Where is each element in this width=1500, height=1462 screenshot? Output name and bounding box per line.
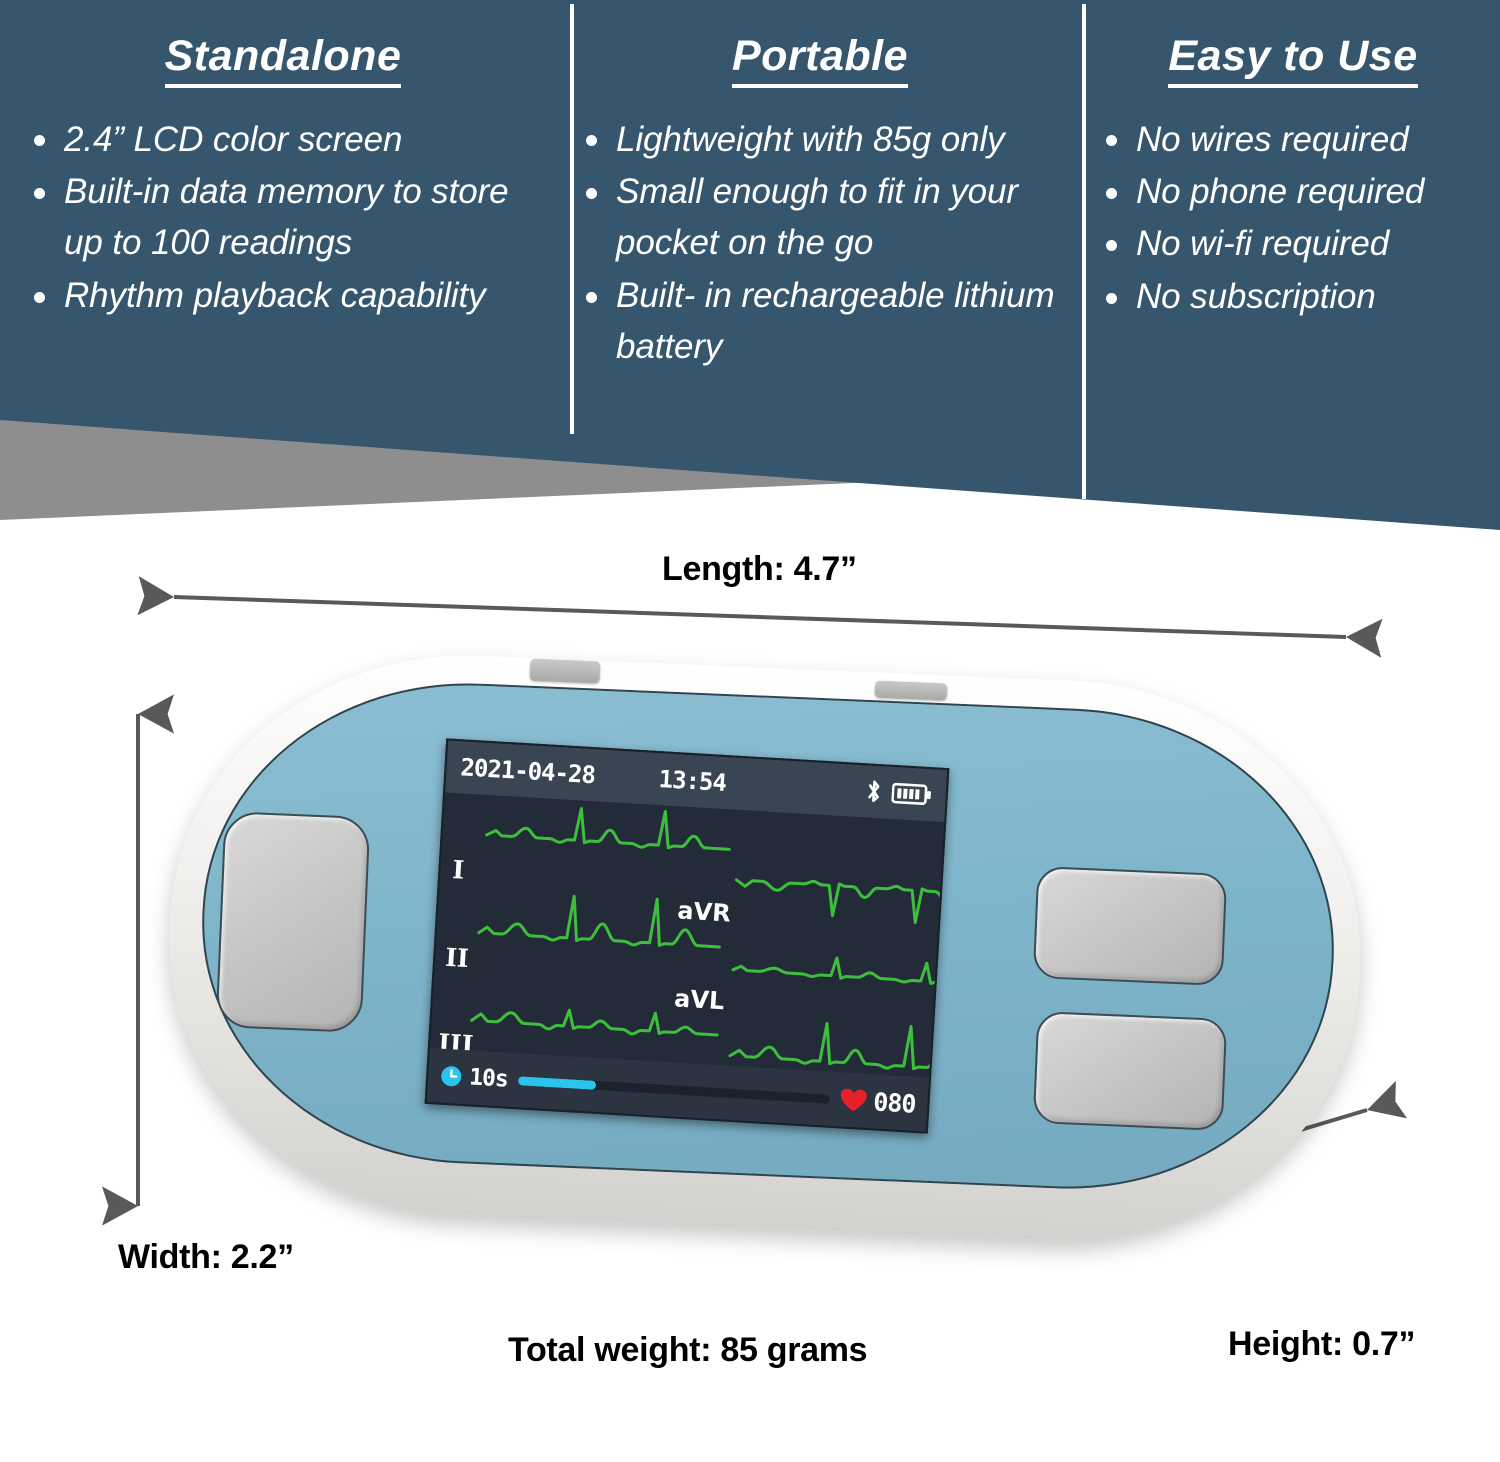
electrode-pad-right-bottom[interactable]	[1033, 1011, 1228, 1131]
header-columns: Standalone 2.4” LCD color screen Built-i…	[0, 0, 1500, 420]
weight-label: Total weight: 85 grams	[508, 1331, 867, 1370]
column-title-wrap: Easy to Use	[1098, 34, 1488, 88]
feature-list: No wires required No phone required No w…	[1098, 114, 1488, 323]
column-title: Standalone	[165, 34, 402, 88]
bluetooth-icon	[864, 778, 884, 805]
lead-label-aVR: aVR	[677, 896, 732, 927]
clock-icon	[440, 1065, 463, 1088]
side-button-right[interactable]	[875, 680, 948, 700]
side-button-left[interactable]	[530, 659, 601, 684]
list-item: Rhythm playback capability	[26, 270, 540, 321]
lcd-date: 2021-04-28	[460, 753, 596, 789]
column-divider	[1082, 4, 1086, 499]
lcd-status-icons	[864, 778, 932, 808]
list-item: No phone required	[1098, 166, 1488, 217]
feature-list: 2.4” LCD color screen Built-in data memo…	[26, 114, 540, 322]
column-title: Easy to Use	[1168, 34, 1417, 88]
lcd-screen[interactable]: 2021-04-28 13:54	[425, 738, 950, 1133]
height-label: Height: 0.7”	[1228, 1325, 1415, 1364]
recording-progress-fill	[517, 1076, 595, 1090]
lead-label-II: II	[444, 943, 469, 973]
feature-column-standalone: Standalone 2.4” LCD color screen Built-i…	[0, 0, 556, 322]
list-item: No wires required	[1098, 114, 1488, 165]
lead-label-aVL: aVL	[673, 984, 725, 1015]
column-divider	[570, 4, 574, 434]
list-item: 2.4” LCD color screen	[26, 114, 540, 165]
column-title-wrap: Standalone	[26, 34, 540, 88]
feature-list: Lightweight with 85g only Small enough t…	[578, 114, 1062, 373]
recording-progress-bar	[517, 1076, 829, 1104]
electrode-pad-left[interactable]	[216, 811, 371, 1033]
lcd-time: 13:54	[658, 765, 727, 797]
feature-column-portable: Portable Lightweight with 85g only Small…	[556, 0, 1076, 374]
ecg-trace-lead-aVL	[733, 952, 944, 986]
recording-timer: 10s	[468, 1064, 508, 1092]
column-title: Portable	[732, 34, 908, 88]
feature-column-easy-to-use: Easy to Use No wires required No phone r…	[1076, 0, 1500, 323]
list-item: No wi-fi required	[1098, 218, 1488, 269]
electrode-pad-right-top[interactable]	[1033, 866, 1228, 986]
ecg-trace-lead-I	[486, 801, 731, 852]
column-title-wrap: Portable	[578, 34, 1062, 88]
heart-icon	[839, 1087, 868, 1114]
length-label: Length: 4.7”	[662, 550, 857, 589]
lead-label-I: I	[452, 855, 465, 885]
ecg-waveform-area	[430, 792, 944, 1077]
list-item: Built- in rechargeable lithium battery	[578, 270, 1062, 373]
ecg-trace-lead-aVR	[735, 877, 945, 926]
ecg-trace-lead-aVF	[730, 1016, 944, 1073]
ecg-device: 2021-04-28 13:54	[110, 640, 1400, 1280]
feature-header: Standalone 2.4” LCD color screen Built-i…	[0, 0, 1500, 530]
list-item: No subscription	[1098, 271, 1488, 322]
list-item: Small enough to fit in your pocket on th…	[578, 166, 1062, 269]
heart-rate-value: 080	[873, 1087, 917, 1118]
list-item: Lightweight with 85g only	[578, 114, 1062, 165]
list-item: Built-in data memory to store up to 100 …	[26, 166, 540, 269]
battery-full-icon	[891, 781, 932, 807]
